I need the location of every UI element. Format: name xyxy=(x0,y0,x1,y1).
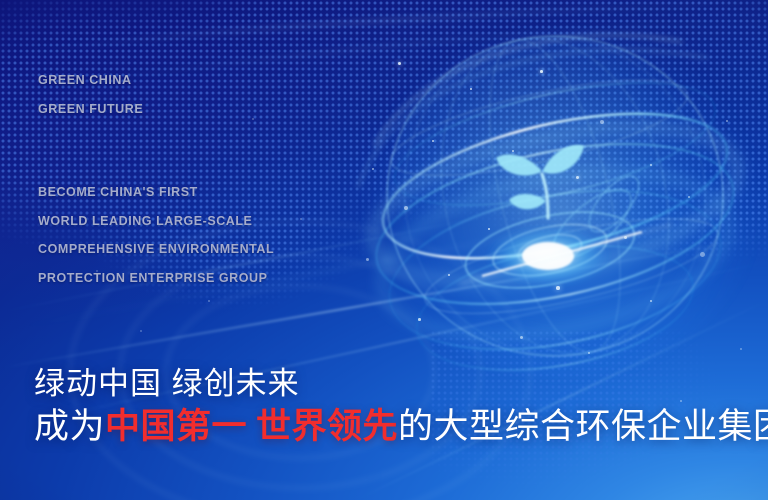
english-mission-line: WORLD LEADING LARGE-SCALE xyxy=(38,207,274,236)
hero-banner: GREEN CHINA GREEN FUTURE BECOME CHINA'S … xyxy=(0,0,768,500)
headline-highlight-china-first: 中国第一 xyxy=(105,407,247,446)
headline-highlight-world-leading: 世界领先 xyxy=(256,407,398,446)
english-tagline-line: GREEN CHINA xyxy=(38,66,143,95)
english-mission-line: COMPREHENSIVE ENVIRONMENTAL xyxy=(38,235,274,264)
headline-line-2: 成为中国第一世界领先的大型综合环保企业集团 xyxy=(34,404,768,450)
english-tagline-line: GREEN FUTURE xyxy=(38,95,143,124)
english-mission-line: BECOME CHINA'S FIRST xyxy=(38,178,274,207)
english-tagline-top: GREEN CHINA GREEN FUTURE xyxy=(38,66,143,123)
headline-suffix: 的大型综合环保企业集团 xyxy=(398,407,768,446)
headline-line-1: 绿动中国 绿创未来 xyxy=(34,364,768,404)
english-mission-line: PROTECTION ENTERPRISE GROUP xyxy=(38,264,274,293)
headline-prefix: 成为 xyxy=(34,407,105,446)
english-mission-statement: BECOME CHINA'S FIRST WORLD LEADING LARGE… xyxy=(38,178,274,292)
chinese-headline: 绿动中国 绿创未来 成为中国第一世界领先的大型综合环保企业集团 xyxy=(34,364,768,450)
